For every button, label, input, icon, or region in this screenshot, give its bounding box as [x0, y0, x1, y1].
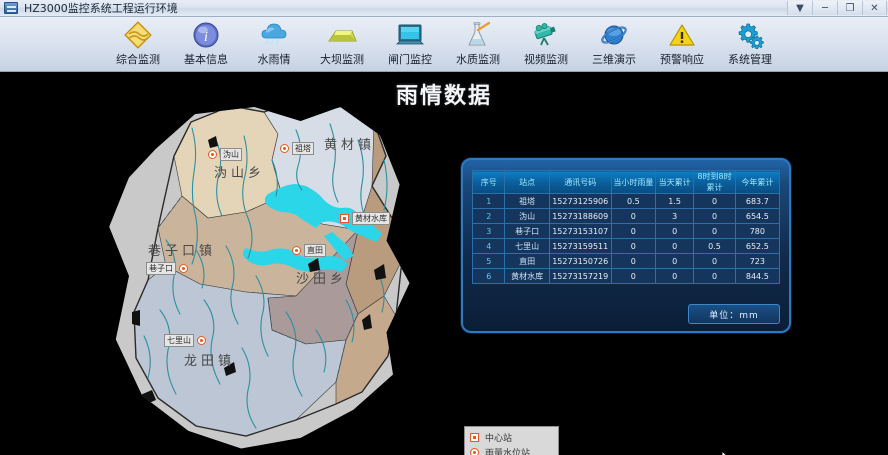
table-row[interactable]: 2 沩山 15273188609 0 3 0 654.5	[473, 209, 780, 224]
station-label: 祖塔	[292, 142, 314, 155]
map-station-zuta[interactable]: 祖塔	[280, 142, 314, 155]
station-circle-icon	[470, 448, 479, 455]
unit-label: 单位：mm	[688, 304, 780, 324]
table-row[interactable]: 6 黄材水库 15273157219 0 0 0 844.5	[473, 269, 780, 284]
toolbar-item-3d-demo[interactable]: 三维演示	[583, 20, 645, 67]
cell-daily: 3	[655, 209, 693, 224]
station-circle-icon	[208, 150, 217, 159]
station-label: 七里山	[164, 334, 194, 347]
cell-phone: 15273157219	[549, 269, 611, 284]
window-title: HZ3000监控系统工程运行环境	[24, 0, 178, 16]
table-row[interactable]: 4 七里山 15273159511 0 0 0.5 652.5	[473, 239, 780, 254]
cell-8to8: 0.5	[694, 239, 735, 254]
warning-triangle-icon	[665, 20, 699, 50]
toolbar-item-basic-info[interactable]: i 基本信息	[175, 20, 237, 67]
map-station-zhitian[interactable]: 直田	[292, 244, 326, 257]
cell-index: 5	[473, 254, 505, 269]
column-header-phone: 通讯号码	[549, 171, 611, 194]
toolbar-item-warning-response[interactable]: 预警响应	[651, 20, 713, 67]
cell-8to8: 0	[694, 254, 735, 269]
toolbar-label: 大坝监测	[320, 51, 364, 67]
station-circle-icon	[179, 264, 188, 273]
rain-cloud-icon	[257, 20, 291, 50]
station-circle-icon	[197, 336, 206, 345]
cell-phone: 15273125906	[549, 194, 611, 209]
cell-hourly: 0.5	[611, 194, 655, 209]
cell-8to8: 0	[694, 269, 735, 284]
dam-icon	[325, 20, 359, 50]
cell-hourly: 0	[611, 224, 655, 239]
info-circle-icon: i	[189, 20, 223, 50]
toolbar-label: 综合监测	[116, 51, 160, 67]
map-region-label: 巷子口镇	[148, 240, 216, 259]
station-circle-icon	[292, 246, 301, 255]
cell-station: 黄材水库	[505, 269, 549, 284]
cell-yearly: 652.5	[735, 239, 779, 254]
toolbar-item-video-monitoring[interactable]: 视频监测	[515, 20, 577, 67]
toolbar-label: 水质监测	[456, 51, 500, 67]
page-title: 雨情数据	[0, 78, 888, 110]
toolbar-item-comprehensive-monitoring[interactable]: 综合监测	[107, 20, 169, 67]
app-icon	[4, 2, 18, 14]
cell-hourly: 0	[611, 239, 655, 254]
close-button[interactable]: ✕	[862, 1, 887, 15]
monitor-icon	[393, 20, 427, 50]
legend-label: 中心站	[485, 431, 512, 444]
main-content: 雨情数据	[0, 72, 888, 455]
cell-daily: 0	[655, 224, 693, 239]
toolbar-item-dam-monitoring[interactable]: 大坝监测	[311, 20, 373, 67]
map-station-weishan[interactable]: 沩山	[208, 148, 242, 161]
toolbar-label: 系统管理	[728, 51, 772, 67]
station-square-icon	[470, 433, 479, 442]
map-region-label: 沙田乡	[296, 268, 347, 287]
legend-label: 雨量水位站	[485, 446, 530, 455]
station-label: 黄材水库	[352, 212, 390, 225]
window-controls: ▼ ─ ❐ ✕	[787, 1, 888, 16]
title-bar: HZ3000监控系统工程运行环境 ▼ ─ ❐ ✕	[0, 0, 888, 17]
cell-hourly: 0	[611, 209, 655, 224]
main-toolbar: 综合监测 i 基本信息	[0, 17, 888, 72]
column-header-hourly: 当小时雨量	[611, 171, 655, 194]
cell-8to8: 0	[694, 224, 735, 239]
cell-hourly: 0	[611, 254, 655, 269]
cell-daily: 1.5	[655, 194, 693, 209]
toolbar-item-system-management[interactable]: 系统管理	[719, 20, 781, 67]
cell-index: 6	[473, 269, 505, 284]
toolbar-label: 水雨情	[258, 51, 291, 67]
cell-phone: 15273159511	[549, 239, 611, 254]
flask-icon	[461, 20, 495, 50]
table-row[interactable]: 5 直田 15273150726 0 0 0 723	[473, 254, 780, 269]
cell-8to8: 0	[694, 194, 735, 209]
column-header-station: 站点	[505, 171, 549, 194]
toolbar-item-water-quality[interactable]: 水质监测	[447, 20, 509, 67]
station-label: 沩山	[220, 148, 242, 161]
station-circle-icon	[280, 144, 289, 153]
cell-8to8: 0	[694, 209, 735, 224]
map-station-huangcai-reservoir[interactable]: 黄材水库	[340, 212, 390, 225]
column-header-yearly: 今年累计	[735, 171, 779, 194]
cell-yearly: 844.5	[735, 269, 779, 284]
cell-index: 4	[473, 239, 505, 254]
cell-daily: 0	[655, 269, 693, 284]
cell-index: 2	[473, 209, 505, 224]
restore-button[interactable]: ❐	[837, 1, 862, 15]
watershed-map[interactable]: 沩山乡 黄材镇 巷子口镇 沙田乡 龙田镇 沩山 祖塔 黄材水库 直田	[96, 100, 426, 452]
cell-daily: 0	[655, 239, 693, 254]
cell-station: 直田	[505, 254, 549, 269]
map-station-qilishan[interactable]: 七里山	[164, 334, 206, 347]
cell-phone: 15273153107	[549, 224, 611, 239]
legend-item-rain-water-station: 雨量水位站	[470, 446, 553, 455]
station-label: 巷子口	[146, 262, 176, 275]
diamond-waves-icon	[121, 20, 155, 50]
cell-index: 3	[473, 224, 505, 239]
cell-yearly: 780	[735, 224, 779, 239]
table-row[interactable]: 3 巷子口 15273153107 0 0 0 780	[473, 224, 780, 239]
toolbar-label: 基本信息	[184, 51, 228, 67]
map-region-label: 龙田镇	[184, 350, 235, 369]
minimize-button[interactable]: ─	[812, 1, 837, 15]
map-station-xiangzikou[interactable]: 巷子口	[146, 262, 188, 275]
table-header-row: 序号 站点 通讯号码 当小时雨量 当天累计 8时到8时累计 今年累计	[473, 171, 780, 194]
toolbar-label: 视频监测	[524, 51, 568, 67]
gears-icon	[733, 20, 767, 50]
cell-phone: 15273188609	[549, 209, 611, 224]
station-label: 直田	[304, 244, 326, 257]
camera-icon	[529, 20, 563, 50]
table-row[interactable]: 1 祖塔 15273125906 0.5 1.5 0 683.7	[473, 194, 780, 209]
map-graphic	[96, 100, 426, 452]
application-window: HZ3000监控系统工程运行环境 ▼ ─ ❐ ✕ 综合监测	[0, 0, 888, 455]
globe-icon	[597, 20, 631, 50]
cell-index: 1	[473, 194, 505, 209]
map-legend: 中心站 雨量水位站	[464, 426, 559, 455]
rainfall-table: 序号 站点 通讯号码 当小时雨量 当天累计 8时到8时累计 今年累计 1 祖塔 …	[472, 170, 780, 284]
column-header-daily: 当天累计	[655, 171, 693, 194]
rainfall-data-panel: 序号 站点 通讯号码 当小时雨量 当天累计 8时到8时累计 今年累计 1 祖塔 …	[461, 158, 791, 333]
toolbar-label: 闸门监控	[388, 51, 432, 67]
cell-phone: 15273150726	[549, 254, 611, 269]
toolbar-label: 三维演示	[592, 51, 636, 67]
map-region-label: 黄材镇	[324, 134, 375, 153]
cell-station: 沩山	[505, 209, 549, 224]
cell-station: 祖塔	[505, 194, 549, 209]
column-header-8to8: 8时到8时累计	[694, 171, 735, 194]
cell-yearly: 723	[735, 254, 779, 269]
legend-item-center-station: 中心站	[470, 431, 553, 444]
column-header-index: 序号	[473, 171, 505, 194]
cell-station: 七里山	[505, 239, 549, 254]
cell-daily: 0	[655, 254, 693, 269]
toolbar-label: 预警响应	[660, 51, 704, 67]
map-region-label: 沩山乡	[214, 162, 265, 181]
cell-yearly: 654.5	[735, 209, 779, 224]
svg-text:i: i	[204, 30, 208, 45]
mouse-cursor	[722, 451, 732, 455]
toolbar-item-gate-control[interactable]: 闸门监控	[379, 20, 441, 67]
dropdown-button[interactable]: ▼	[787, 1, 812, 15]
cell-hourly: 0	[611, 269, 655, 284]
cell-yearly: 683.7	[735, 194, 779, 209]
station-square-icon	[340, 214, 349, 223]
toolbar-item-water-rain[interactable]: 水雨情	[243, 20, 305, 67]
cell-station: 巷子口	[505, 224, 549, 239]
